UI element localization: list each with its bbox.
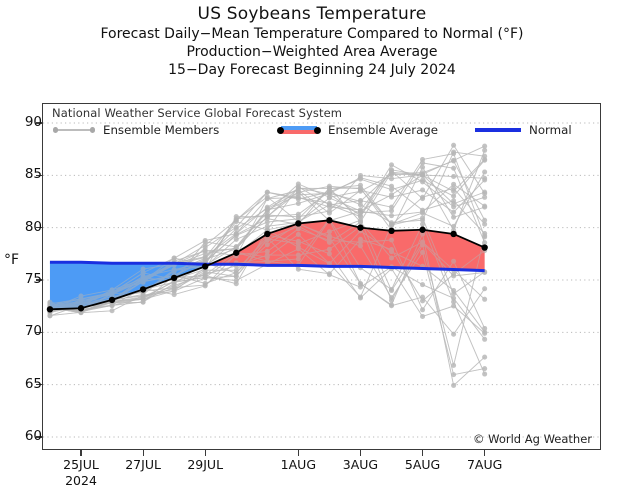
x-tick-label: 27JUL: [125, 457, 161, 472]
x-tick-mark: [422, 450, 423, 456]
x-tick-mark: [360, 450, 361, 456]
x-tick-sublabel: 2024: [63, 473, 99, 488]
x-tick-label: 29JUL: [187, 457, 223, 472]
x-tick-mark: [80, 450, 81, 456]
x-tick-mark: [205, 450, 206, 456]
x-tick-mark: [298, 450, 299, 456]
x-tick-label: 1AUG: [281, 457, 316, 472]
x-tick-label: 5AUG: [405, 457, 440, 472]
x-tick-label: 25JUL2024: [63, 457, 99, 488]
x-tick-mark: [143, 450, 144, 456]
x-tick-label: 7AUG: [467, 457, 502, 472]
x-axis-ticks: 25JUL202427JUL29JUL1AUG3AUG5AUG7AUG: [0, 0, 624, 483]
x-tick-label: 3AUG: [343, 457, 378, 472]
x-tick-mark: [484, 450, 485, 456]
chart-page: US Soybeans Temperature Forecast Daily−M…: [0, 0, 624, 483]
